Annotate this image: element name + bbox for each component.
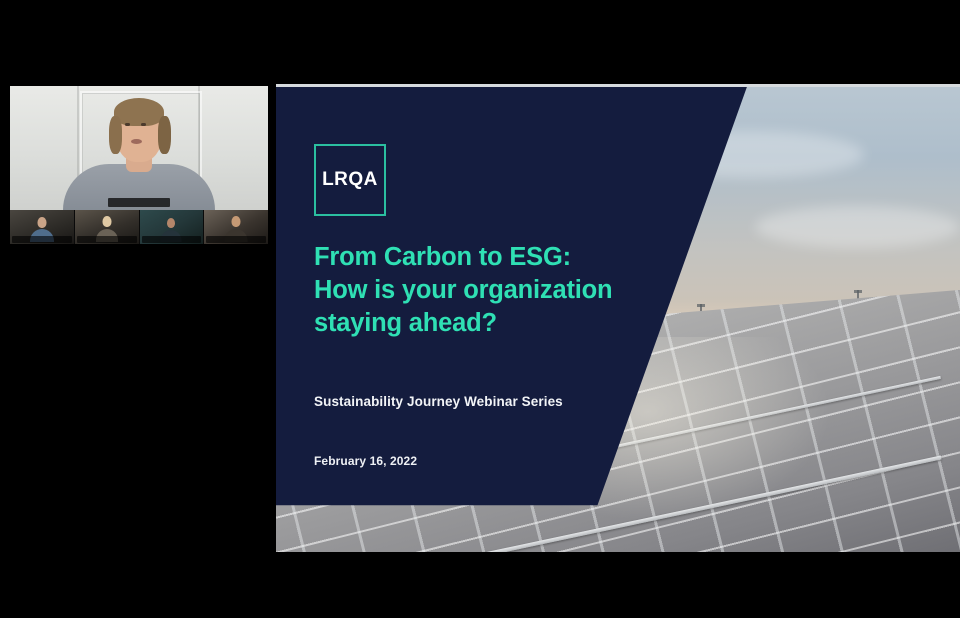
participant-thumbnail[interactable] — [10, 210, 74, 244]
participant-thumbnail-strip[interactable] — [10, 210, 268, 244]
slide-title: From Carbon to ESG: How is your organiza… — [314, 241, 714, 340]
lrqa-logo: LRQA — [314, 144, 386, 216]
lrqa-logo-text: LRQA — [322, 169, 378, 191]
slide-date: February 16, 2022 — [314, 454, 417, 468]
video-conference-stage: LRQA From Carbon to ESG: How is your org… — [0, 0, 960, 618]
shared-presentation-slide[interactable]: LRQA From Carbon to ESG: How is your org… — [276, 84, 960, 552]
speaker-avatar — [63, 118, 215, 210]
participant-name-label — [77, 236, 137, 243]
participant-name-label — [142, 236, 202, 243]
participant-thumbnail[interactable] — [204, 210, 268, 244]
slide-top-edge — [276, 84, 960, 87]
active-speaker-tile[interactable] — [10, 86, 268, 210]
participant-thumbnail[interactable] — [140, 210, 204, 244]
participant-name-label — [12, 236, 72, 243]
speaker-name-label — [108, 198, 170, 207]
participant-video-panel[interactable] — [10, 86, 268, 244]
slide-content: LRQA From Carbon to ESG: How is your org… — [276, 84, 960, 552]
participant-name-label — [206, 236, 266, 243]
participant-thumbnail[interactable] — [75, 210, 139, 244]
slide-subtitle: Sustainability Journey Webinar Series — [314, 394, 563, 409]
